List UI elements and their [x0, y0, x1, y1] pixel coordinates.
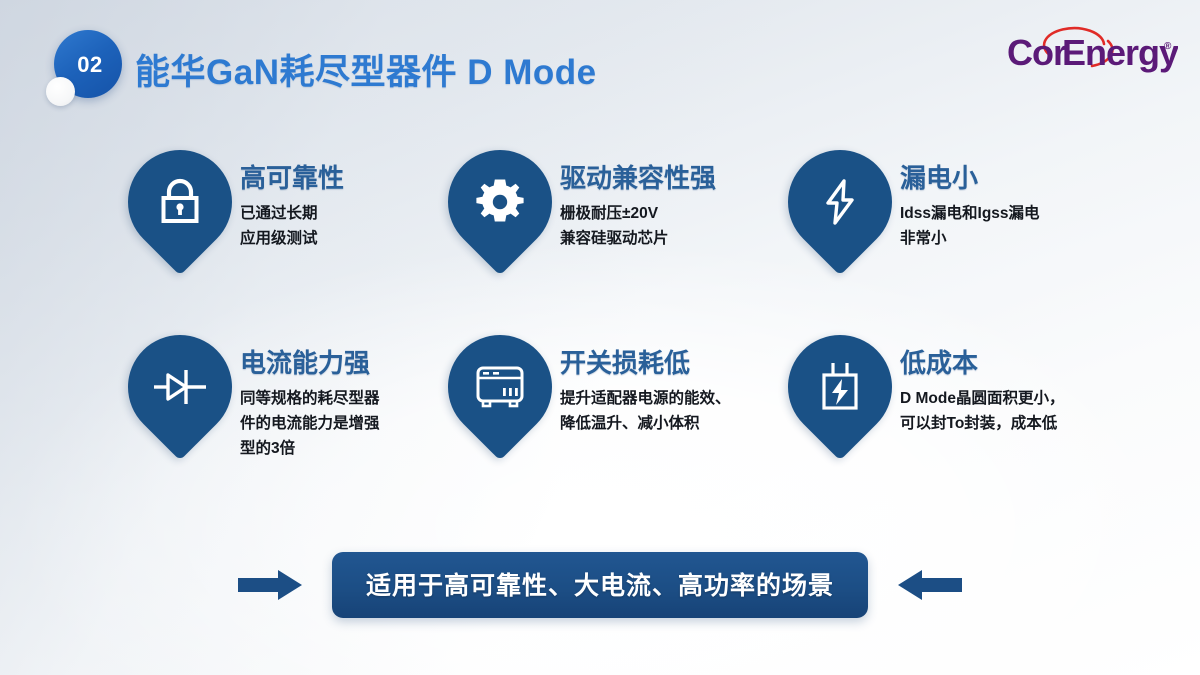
summary-banner: 适用于高可靠性、大电流、高功率的场景	[332, 552, 868, 618]
feature-text: 低成本 D Mode晶圆面积更小， 可以封To封装，成本低	[900, 335, 1064, 436]
feature-body-line: 可以封To封装，成本低	[900, 411, 1064, 436]
lock-icon	[128, 150, 232, 254]
arrow-left-icon	[896, 567, 964, 603]
feature-body-line: 非常小	[900, 226, 1040, 251]
feature-body-line: Idss漏电和Igss漏电	[900, 201, 1040, 226]
feature-item-switching-loss: 开关损耗低 提升适配器电源的能效、 降低温升、减小体积	[448, 335, 788, 461]
feature-pin	[128, 335, 232, 461]
feature-text: 电流能力强 同等规格的耗尽型器 件的电流能力是增强 型的3倍	[240, 335, 380, 461]
feature-text: 漏电小 Idss漏电和Igss漏电 非常小	[900, 150, 1040, 251]
page-title: 能华GaN耗尽型器件 D Mode	[135, 44, 597, 95]
feature-text: 高可靠性 已通过长期 应用级测试	[240, 150, 344, 251]
feature-pin	[448, 335, 552, 461]
feature-row-1: 高可靠性 已通过长期 应用级测试	[0, 150, 1200, 335]
feature-text: 驱动兼容性强 栅极耐压±20V 兼容硅驱动芯片	[560, 150, 716, 251]
gear-icon	[448, 150, 552, 254]
slide-header: 02 能华GaN耗尽型器件 D Mode Cor Energy ®	[0, 0, 1200, 128]
feature-body-line: 型的3倍	[240, 436, 380, 461]
svg-text:Energy: Energy	[1062, 32, 1178, 73]
badge-accent-dot	[46, 77, 75, 106]
feature-body: D Mode晶圆面积更小， 可以封To封装，成本低	[900, 386, 1064, 436]
feature-heading: 开关损耗低	[560, 349, 731, 379]
feature-body: 提升适配器电源的能效、 降低温升、减小体积	[560, 386, 731, 436]
summary-banner-row: 适用于高可靠性、大电流、高功率的场景	[0, 553, 1200, 617]
svg-text:Cor: Cor	[1007, 32, 1067, 73]
feature-pin	[788, 150, 892, 276]
arrow-right-icon	[236, 567, 304, 603]
feature-item-leakage: 漏电小 Idss漏电和Igss漏电 非常小	[788, 150, 1128, 276]
feature-heading: 电流能力强	[240, 349, 380, 379]
feature-body: 栅极耐压±20V 兼容硅驱动芯片	[560, 201, 716, 251]
power-supply-icon	[448, 335, 552, 439]
feature-grid: 高可靠性 已通过长期 应用级测试	[0, 150, 1200, 520]
feature-body: 已通过长期 应用级测试	[240, 201, 344, 251]
feature-body-line: 应用级测试	[240, 226, 344, 251]
feature-item-low-cost: 低成本 D Mode晶圆面积更小， 可以封To封装，成本低	[788, 335, 1128, 461]
feature-body: 同等规格的耗尽型器 件的电流能力是增强 型的3倍	[240, 386, 380, 461]
corenergy-logo: Cor Energy ®	[996, 22, 1178, 84]
feature-body-line: D Mode晶圆面积更小，	[900, 386, 1064, 411]
lightning-bolt-icon	[788, 150, 892, 254]
feature-pin	[448, 150, 552, 276]
feature-heading: 漏电小	[900, 164, 1040, 194]
feature-item-drive-compat: 驱动兼容性强 栅极耐压±20V 兼容硅驱动芯片	[448, 150, 788, 276]
slide: 02 能华GaN耗尽型器件 D Mode Cor Energy ®	[0, 0, 1200, 675]
feature-pin	[128, 150, 232, 276]
feature-body-line: 件的电流能力是增强	[240, 411, 380, 436]
feature-body-line: 栅极耐压±20V	[560, 201, 716, 226]
feature-item-reliability: 高可靠性 已通过长期 应用级测试	[128, 150, 468, 276]
feature-body-line: 提升适配器电源的能效、	[560, 386, 731, 411]
feature-body-line: 已通过长期	[240, 201, 344, 226]
feature-body: Idss漏电和Igss漏电 非常小	[900, 201, 1040, 251]
feature-body-line: 兼容硅驱动芯片	[560, 226, 716, 251]
feature-body-line: 降低温升、减小体积	[560, 411, 731, 436]
feature-heading: 低成本	[900, 349, 1064, 379]
diode-icon	[128, 335, 232, 439]
plug-bolt-icon	[788, 335, 892, 439]
feature-text: 开关损耗低 提升适配器电源的能效、 降低温升、减小体积	[560, 335, 731, 436]
feature-heading: 高可靠性	[240, 164, 344, 194]
feature-body-line: 同等规格的耗尽型器	[240, 386, 380, 411]
feature-row-2: 电流能力强 同等规格的耗尽型器 件的电流能力是增强 型的3倍	[0, 335, 1200, 520]
feature-pin	[788, 335, 892, 461]
feature-heading: 驱动兼容性强	[560, 164, 716, 194]
svg-text:®: ®	[1164, 41, 1172, 52]
feature-item-current: 电流能力强 同等规格的耗尽型器 件的电流能力是增强 型的3倍	[128, 335, 468, 461]
